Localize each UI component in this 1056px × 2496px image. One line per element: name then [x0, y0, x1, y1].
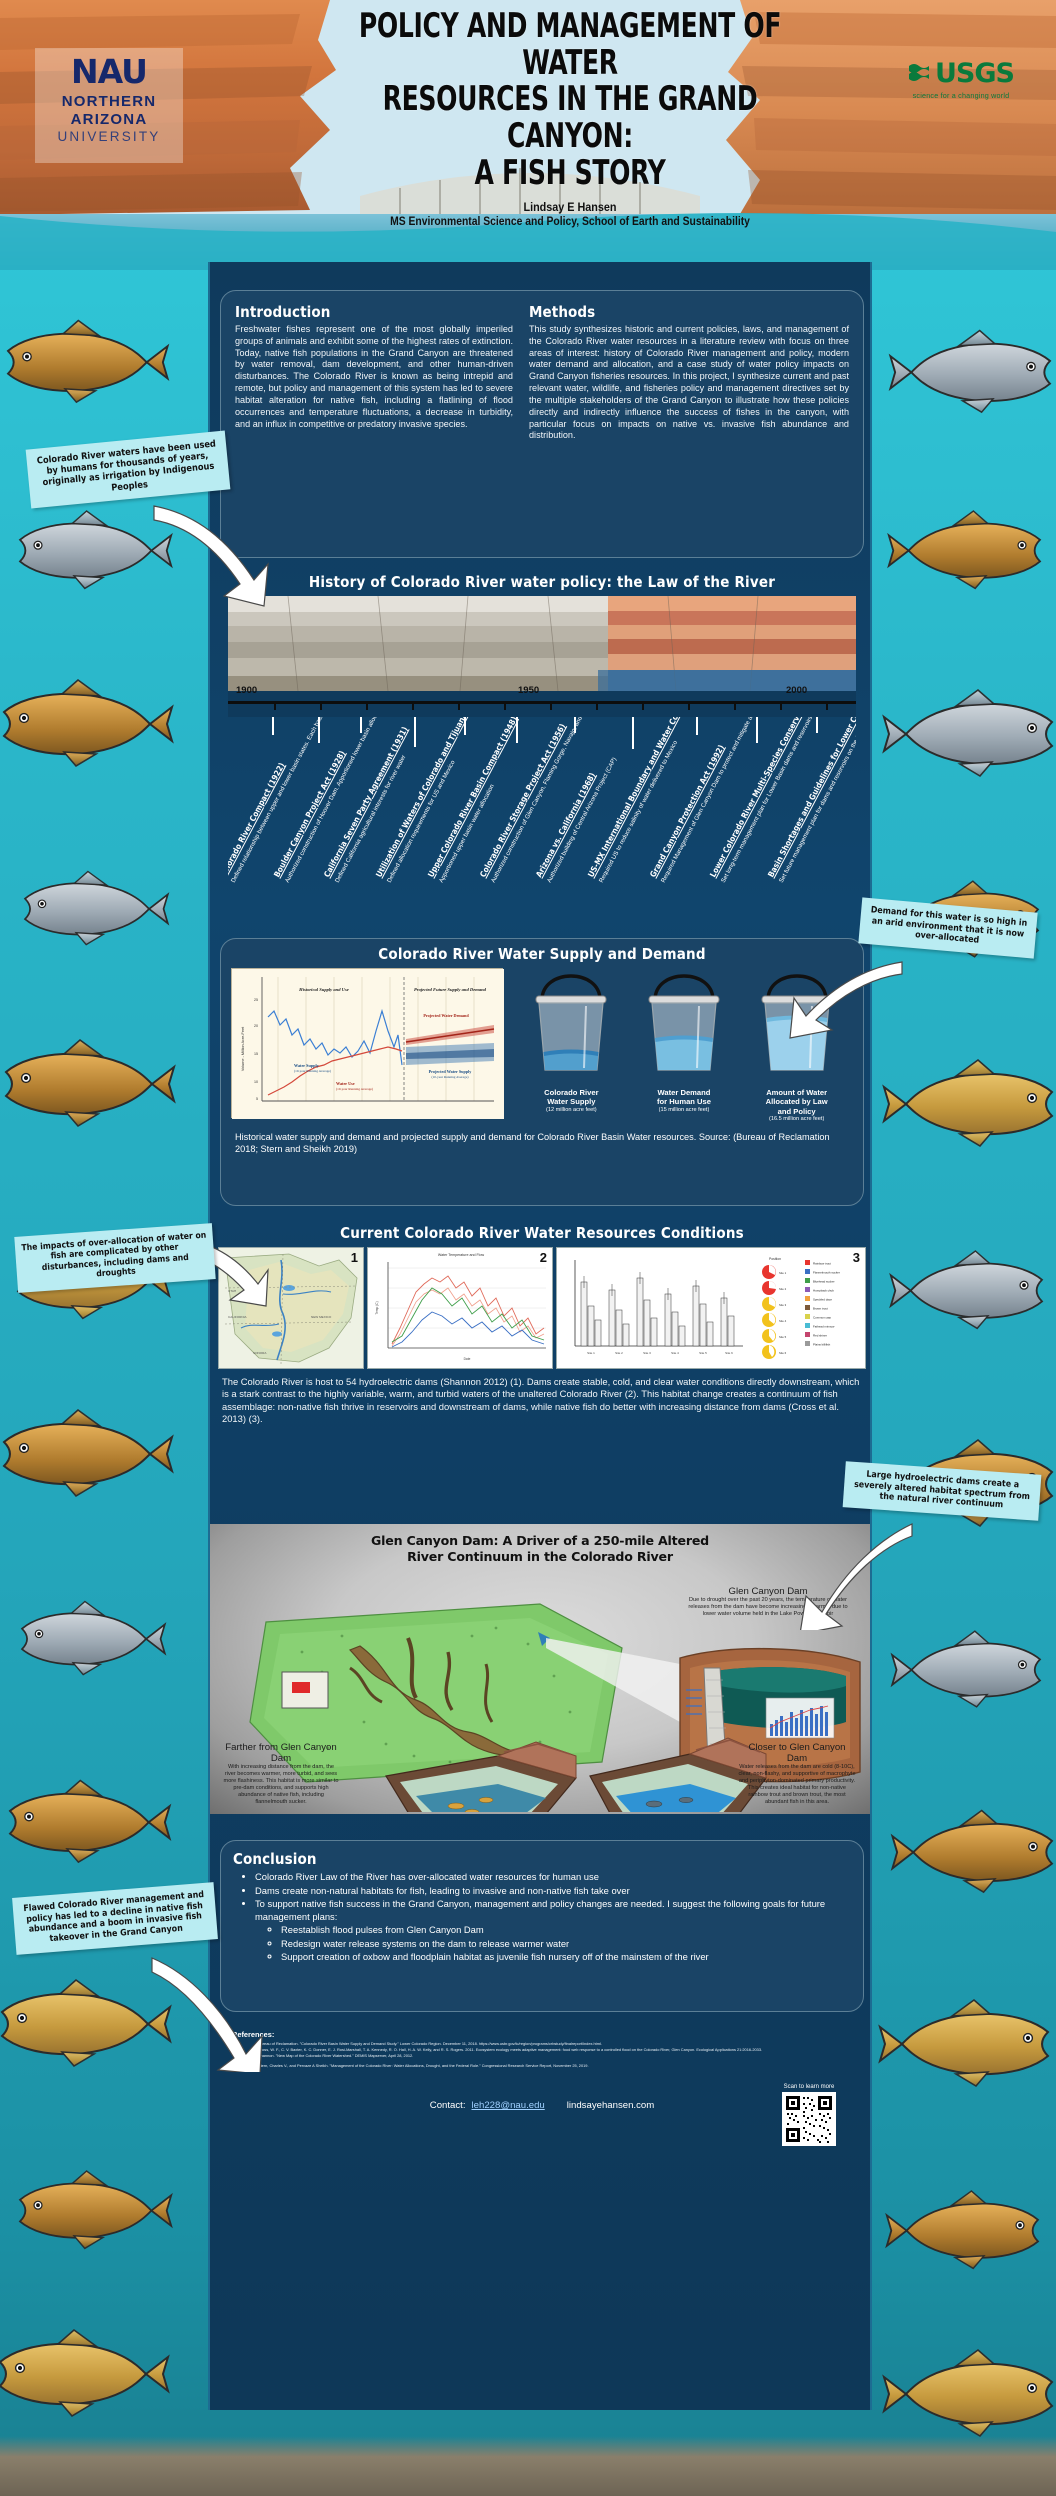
timeline-year-1950: 1950: [518, 685, 539, 696]
methods-heading: Methods: [529, 303, 849, 321]
references-heading: References:: [232, 2030, 852, 2039]
nau-line-northern: NORTHERN: [41, 93, 177, 111]
poster-title-line-2: RESOURCES IN THE GRAND CANYON:: [324, 81, 816, 154]
svg-text:Site 4: Site 4: [671, 1351, 679, 1355]
glen-canyon-title-line-1: Glen Canyon Dam: A Driver of a 250-mile …: [210, 1533, 870, 1549]
contact-bar: Contact: leh228@nau.edu lindsayehansen.c…: [210, 2100, 874, 2111]
conditions-panel-barchart[interactable]: 3: [556, 1247, 866, 1369]
svg-text:Position: Position: [769, 1257, 781, 1261]
callout-arrow-flawed: [150, 1952, 270, 2072]
svg-text:SONORA: SONORA: [253, 1351, 267, 1355]
conclusion-bullet: To support native fish success in the Gr…: [255, 1898, 851, 1923]
bucket-water-supply: Colorado River Water Supply (12 million …: [528, 970, 614, 1123]
glen-canyon-title-line-2: River Continuum in the Colorado River: [210, 1549, 870, 1565]
conclusion-sub-bullet: Reestablish flood pulses from Glen Canyo…: [281, 1924, 851, 1937]
svg-text:20: 20: [254, 1024, 258, 1028]
glen-canyon-section: Glen Canyon Dam: A Driver of a 250-mile …: [210, 1524, 870, 1814]
conditions-section: Current Colorado River Water Resources C…: [210, 1222, 874, 1426]
svg-text:25: 25: [254, 998, 258, 1002]
timeline-canyon-strata-image: [228, 596, 856, 691]
bucket-water-demand: Water Demand for Human Use (15 million a…: [641, 970, 727, 1123]
closer-to-dam-heading: Closer to Glen Canyon Dam: [738, 1742, 856, 1764]
timeline-year-1900: 1900: [236, 685, 257, 696]
glen-canyon-title: Glen Canyon Dam: A Driver of a 250-mile …: [210, 1524, 870, 1564]
supply-demand-caption: Historical water supply and demand and p…: [231, 1131, 853, 1156]
svg-text:CALIFORNIA: CALIFORNIA: [228, 1315, 248, 1319]
svg-text:Projected Water Demand: Projected Water Demand: [423, 1013, 469, 1018]
conditions-title: Current Colorado River Water Resources C…: [210, 1222, 874, 1247]
callout-arrow-hydroelectric: [796, 1520, 916, 1630]
svg-text:Red shiner: Red shiner: [813, 1334, 827, 1338]
svg-text:Site 3: Site 3: [643, 1351, 651, 1355]
callout-text: Large hydroelectric dams create a severe…: [854, 1470, 1030, 1511]
reference-item: Stern, Charles V., and Pervaze A Sheikh.…: [258, 2063, 852, 2069]
poster-main-column: Introduction Freshwater fishes represent…: [208, 262, 872, 2410]
svg-text:15: 15: [254, 1052, 258, 1056]
usgs-logo: USGS science for a changing world: [896, 58, 1026, 100]
nau-logo: NAU NORTHERN ARIZONA UNIVERSITY: [35, 48, 183, 163]
callout-arrow-overallocated: [786, 952, 906, 1042]
introduction-text: Freshwater fishes represent one of the m…: [235, 324, 513, 430]
svg-text:Flannelmouth sucker: Flannelmouth sucker: [813, 1271, 840, 1275]
methods-text: This study synthesizes historic and curr…: [529, 324, 849, 442]
bucket-sublabel: (12 million acre feet): [528, 1107, 614, 1114]
timeline-section: History of Colorado River water policy: …: [210, 570, 874, 892]
svg-text:(10-year Running Average): (10-year Running Average): [294, 1069, 331, 1073]
bucket-sublabel: (16.5 million acre feet): [754, 1116, 840, 1123]
farther-from-dam-heading: Farther from Glen Canyon Dam: [222, 1742, 340, 1764]
svg-text:(10-year Running Average): (10-year Running Average): [431, 1075, 468, 1079]
contact-label: Contact:: [430, 2100, 466, 2111]
svg-text:Brown trout: Brown trout: [813, 1307, 828, 1311]
conclusion-heading: Conclusion: [233, 1850, 851, 1868]
supply-demand-title: Colorado River Water Supply and Demand: [231, 945, 853, 963]
svg-text:Site 3: Site 3: [779, 1303, 787, 1307]
conditions-panel-number: 2: [540, 1250, 547, 1265]
timeline-year-2000: 2000: [786, 685, 807, 696]
poster-title-line-1: POLICY AND MANAGEMENT OF WATER: [324, 8, 816, 81]
callout-text: Demand for this water is so high in an a…: [870, 905, 1027, 946]
svg-text:Bluehead sucker: Bluehead sucker: [813, 1280, 835, 1284]
svg-text:Speckled dace: Speckled dace: [813, 1298, 832, 1302]
svg-text:Site 1: Site 1: [779, 1271, 787, 1275]
usgs-wave-icon: [908, 62, 930, 86]
svg-text:Rainbow trout: Rainbow trout: [813, 1262, 831, 1266]
fish-decoration: [8, 321, 168, 403]
bucket-label-text: Colorado River Water Supply: [544, 1088, 598, 1106]
references-block: References: Bureau of Reclamation. "Colo…: [232, 2030, 852, 2068]
conditions-panel-number: 1: [351, 1250, 358, 1265]
poster-title-line-3: A FISH STORY: [324, 155, 816, 192]
contact-website-link[interactable]: lindsayehansen.com: [567, 2100, 654, 2111]
qr-block: Scan to learn more: [782, 2084, 836, 2146]
svg-text:Site 1: Site 1: [587, 1351, 595, 1355]
svg-text:Site 5: Site 5: [779, 1335, 787, 1339]
conclusion-bullet: Colorado River Law of the River has over…: [255, 1871, 851, 1884]
bucket-icon: [641, 970, 727, 1078]
bucket-icon: [528, 970, 614, 1078]
svg-text:Temp (C): Temp (C): [375, 1301, 379, 1314]
timeline-title: History of Colorado River water policy: …: [210, 570, 874, 596]
usgs-wordmark: USGS: [935, 58, 1014, 89]
bucket-sublabel: (15 million acre feet): [641, 1107, 727, 1114]
usgs-tagline: science for a changing world: [896, 91, 1026, 100]
introduction-heading: Introduction: [235, 303, 513, 321]
seafloor: [0, 2436, 1056, 2496]
callout-text: Colorado River waters have been used by …: [36, 438, 216, 493]
poster-title-block: POLICY AND MANAGEMENT OF WATER RESOURCES…: [270, 8, 870, 230]
svg-text:Fathead minnow: Fathead minnow: [813, 1325, 835, 1329]
svg-text:Water Temperature and Flow: Water Temperature and Flow: [438, 1253, 485, 1257]
bucket-label: Colorado River Water Supply (12 million …: [528, 1088, 614, 1113]
svg-text:Water Supply: Water Supply: [294, 1063, 320, 1068]
svg-text:Site 6: Site 6: [779, 1351, 787, 1355]
conclusion-bullet-list: Colorado River Law of the River has over…: [255, 1871, 851, 1964]
bucket-label-text: Water Demand for Human Use: [657, 1088, 711, 1106]
farther-from-dam-text: With increasing distance from the dam, t…: [222, 1764, 340, 1806]
nau-line-arizona: ARIZONA: [41, 111, 177, 129]
svg-text:Projected Future Supply and De: Projected Future Supply and Demand: [414, 987, 487, 992]
methods-section: Methods This study synthesizes historic …: [529, 303, 849, 545]
qr-caption: Scan to learn more: [782, 2084, 836, 2090]
callout-text: Flawed Colorado River management and pol…: [23, 1890, 204, 1944]
conclusion-sub-bullet-list: Reestablish flood pulses from Glen Canyo…: [281, 1924, 851, 1964]
svg-text:Site 5: Site 5: [699, 1351, 707, 1355]
conclusion-sub-bullet: Redesign water release systems on the da…: [281, 1938, 851, 1951]
qr-code-icon: [784, 2094, 834, 2144]
intro-methods-card: Introduction Freshwater fishes represent…: [220, 290, 864, 558]
farther-from-dam-block: Farther from Glen Canyon Dam With increa…: [222, 1742, 340, 1806]
bucket-label: Water Demand for Human Use (15 million a…: [641, 1088, 727, 1113]
author-name: Lindsay E Hansen: [300, 199, 840, 215]
nau-wordmark: NAU: [41, 56, 177, 87]
svg-text:Site 4: Site 4: [779, 1319, 787, 1323]
callout-arrow-indigenous: [150, 500, 280, 610]
reference-item: Shannon. "New Map of the Colorado River …: [258, 2053, 852, 2059]
supply-demand-card: Colorado River Water Supply and Demand H…: [220, 938, 864, 1206]
svg-text:Projected Water Supply: Projected Water Supply: [429, 1069, 473, 1074]
svg-text:Water Use: Water Use: [336, 1081, 355, 1086]
conclusion-card: Conclusion Colorado River Law of the Riv…: [220, 1840, 864, 2012]
svg-text:5: 5: [256, 1097, 258, 1101]
svg-text:Site 2: Site 2: [779, 1287, 787, 1291]
conditions-panel-number: 3: [853, 1250, 860, 1265]
svg-text:Plains killifish: Plains killifish: [813, 1343, 831, 1347]
bucket-label-text: Amount of Water Allocated by Law and Pol…: [766, 1088, 828, 1116]
svg-text:Site 6: Site 6: [725, 1351, 733, 1355]
timeline-axis: 1900 1950 2000: [228, 691, 856, 717]
svg-text:Common carp: Common carp: [813, 1316, 832, 1320]
author-affiliation: MS Environmental Science and Policy, Sch…: [300, 215, 840, 231]
closer-to-dam-text: Water releases from the dam are cold (8-…: [738, 1764, 856, 1806]
qr-code[interactable]: [782, 2092, 836, 2146]
conditions-text: The Colorado River is host to 54 hydroel…: [222, 1376, 862, 1426]
header-canyon-banner: POLICY AND MANAGEMENT OF WATER RESOURCES…: [0, 0, 1056, 270]
conclusion-bullet: Dams create non-natural habitats for fis…: [255, 1885, 851, 1898]
nau-line-university: UNIVERSITY: [41, 129, 177, 145]
contact-email-link[interactable]: leh228@nau.edu: [472, 2100, 545, 2111]
svg-text:Date: Date: [464, 1357, 471, 1361]
svg-text:10: 10: [254, 1080, 258, 1084]
callout-text: The impacts of over-allocation of water …: [21, 1231, 206, 1280]
conditions-panel-timeseries[interactable]: 2 Water Temperature and Flow: [367, 1247, 553, 1369]
svg-text:Humpback chub: Humpback chub: [813, 1289, 834, 1293]
timeline-event-labels: Colorado River Compact (1922) Defined re…: [228, 717, 856, 892]
svg-text:(10-year Running Average): (10-year Running Average): [336, 1087, 373, 1091]
svg-text:NEW MEXICO: NEW MEXICO: [311, 1315, 332, 1319]
svg-text:Historical Supply and Use: Historical Supply and Use: [298, 987, 349, 992]
svg-text:Site 2: Site 2: [615, 1351, 623, 1355]
bucket-label: Amount of Water Allocated by Law and Pol…: [754, 1088, 840, 1123]
conclusion-sub-bullet: Support creation of oxbow and floodplain…: [281, 1951, 851, 1964]
closer-to-dam-block: Closer to Glen Canyon Dam Water releases…: [738, 1742, 856, 1806]
supply-demand-chart: Historical Supply and Use Projected Futu…: [231, 968, 503, 1118]
svg-text:Volume - Million Acre-Feet: Volume - Million Acre-Feet: [241, 1026, 245, 1071]
